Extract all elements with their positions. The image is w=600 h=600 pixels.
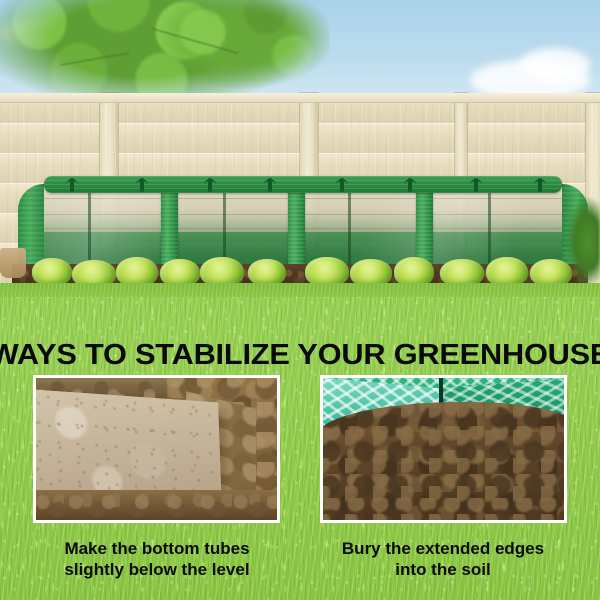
tip-card-2	[320, 375, 567, 523]
greenhouse-clip	[404, 178, 416, 192]
tip-card-1	[33, 375, 280, 523]
cloud	[520, 48, 590, 82]
lettuce-plant	[32, 258, 72, 286]
greenhouse-clip	[136, 178, 148, 192]
tip-cards	[0, 375, 600, 535]
greenhouse-clip	[66, 178, 78, 192]
background-bush	[560, 196, 600, 288]
tip-caption-2: Bury the extended edges into the soil	[303, 538, 583, 580]
greenhouse-clip	[336, 178, 348, 192]
fence-top-rail	[0, 93, 600, 103]
leveled-trench-photo	[33, 375, 280, 523]
tip-caption-1-line1: Make the bottom tubes	[64, 539, 249, 558]
greenhouse-clip	[534, 178, 546, 192]
poster-canvas: WAYS TO STABILIZE YOUR GREENHOUSE	[0, 0, 600, 600]
buried-edge-photo	[320, 375, 567, 523]
page-title: WAYS TO STABILIZE YOUR GREENHOUSE	[0, 340, 600, 370]
tip-caption-2-line2: into the soil	[303, 559, 583, 580]
tip-caption-1-line2: slightly below the level	[17, 559, 297, 580]
tip-caption-1: Make the bottom tubes slightly below the…	[17, 538, 297, 580]
foreground-grass-strip	[0, 283, 600, 297]
lettuce-plant	[248, 259, 286, 286]
soil-mound	[320, 402, 567, 520]
plant-pot	[0, 248, 26, 278]
greenhouse-clip	[470, 178, 482, 192]
tip-caption-2-line1: Bury the extended edges	[342, 539, 544, 558]
hero-greenhouse-photo	[0, 0, 600, 297]
greenhouse-clip	[204, 178, 216, 192]
greenhouse-rolled-flap	[44, 176, 562, 193]
greenhouse-clip	[264, 178, 276, 192]
tree-foliage-secondary	[160, 0, 330, 95]
